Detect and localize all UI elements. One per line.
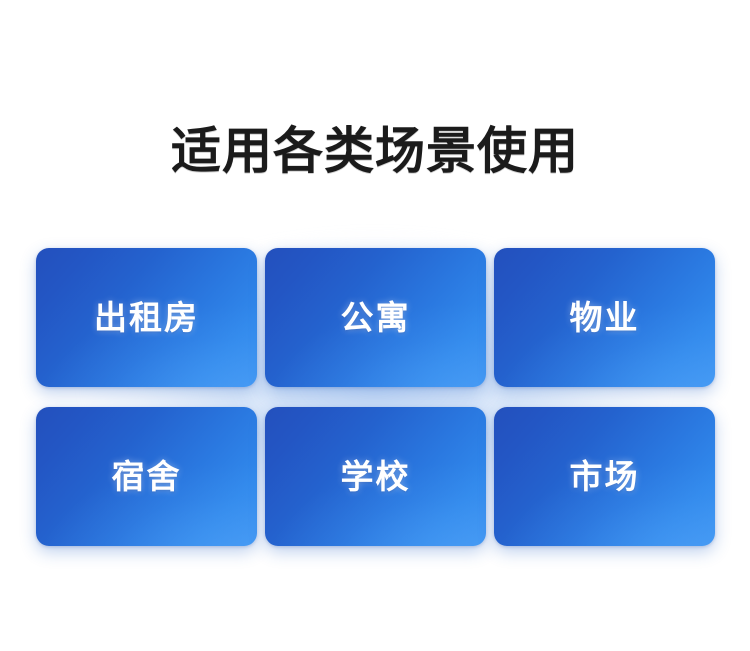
scene-card-apartment[interactable]: 公寓 bbox=[265, 248, 486, 387]
scene-card-label: 市场 bbox=[570, 460, 640, 493]
scene-card-label: 学校 bbox=[341, 460, 411, 493]
scenario-banner: 适用各类场景使用 出租房 公寓 物业 宿舍 学校 市场 bbox=[0, 0, 750, 651]
scene-card-label: 公寓 bbox=[341, 301, 411, 334]
page-title-container: 适用各类场景使用 bbox=[0, 88, 750, 214]
scene-card-grid: 出租房 公寓 物业 宿舍 学校 市场 bbox=[36, 248, 715, 546]
scene-card-property[interactable]: 物业 bbox=[494, 248, 715, 387]
scene-card-label: 物业 bbox=[570, 301, 640, 334]
scene-card-label: 出租房 bbox=[94, 301, 199, 334]
scene-card-market[interactable]: 市场 bbox=[494, 407, 715, 546]
scene-card-school[interactable]: 学校 bbox=[265, 407, 486, 546]
page-title: 适用各类场景使用 bbox=[171, 122, 579, 181]
scene-card-dormitory[interactable]: 宿舍 bbox=[36, 407, 257, 546]
scene-card-rental-house[interactable]: 出租房 bbox=[36, 248, 257, 387]
scene-card-label: 宿舍 bbox=[112, 460, 182, 493]
